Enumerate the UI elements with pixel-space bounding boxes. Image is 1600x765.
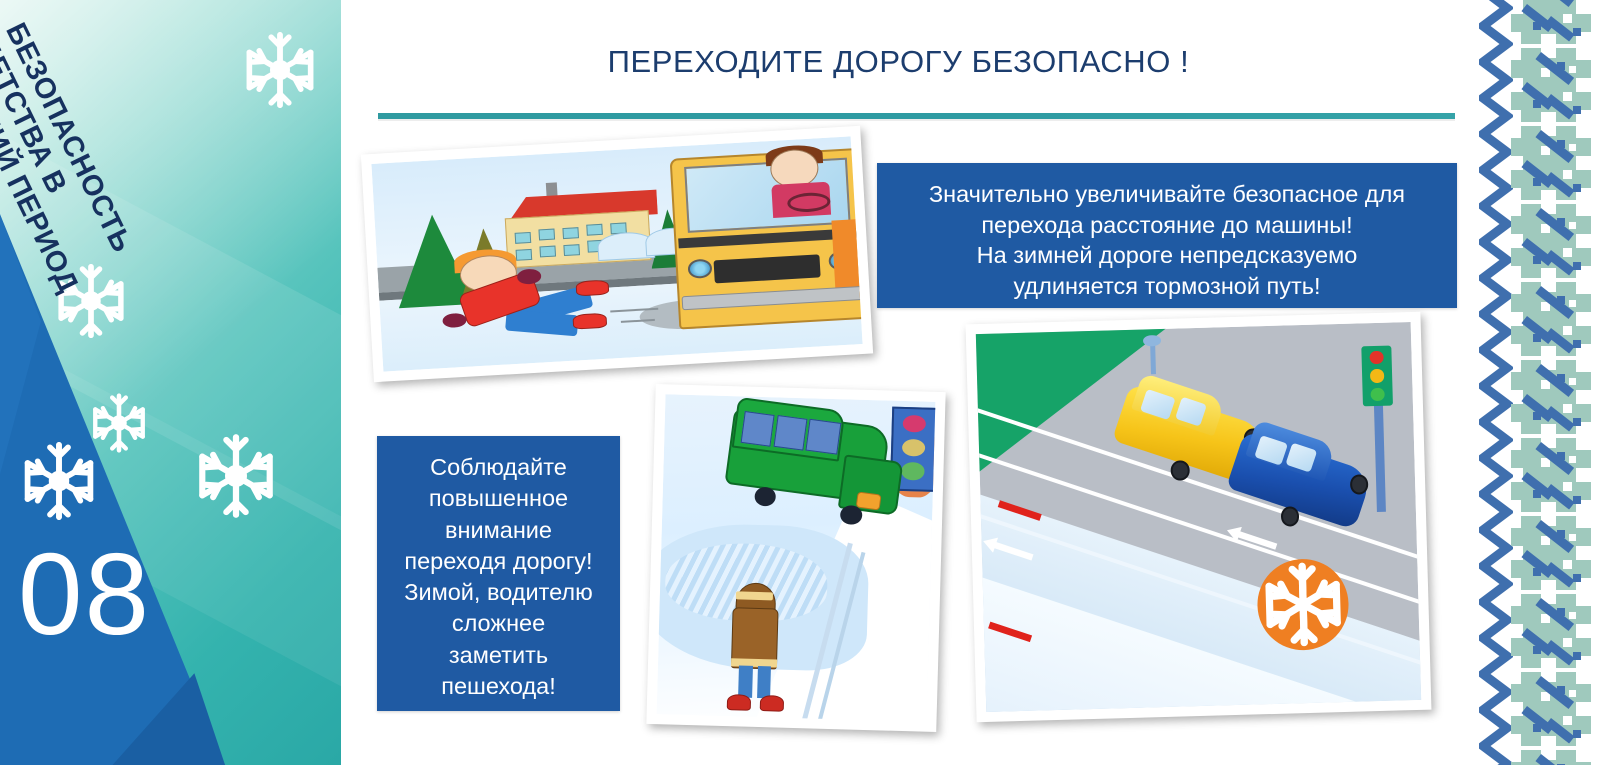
- callout-line: заметить: [387, 640, 610, 671]
- callout-line: переходя дорогу!: [387, 546, 610, 577]
- callout-line: Зимой, водителю: [387, 577, 610, 608]
- title-divider-rule: [378, 113, 1455, 119]
- snowflake-icon: [18, 440, 100, 526]
- callout-pay-attention-crossing: Соблюдайте повышенное внимание переходя …: [377, 436, 620, 711]
- callout-increase-safe-distance: Значительно увеличивайте безопасное для …: [877, 163, 1457, 308]
- snowflake-icon: [240, 30, 320, 114]
- diamond-motif-ornament-icon: [1505, 0, 1600, 765]
- illustration-green-car-behind-snowbank: [646, 384, 945, 732]
- callout-line: сложнее: [387, 608, 610, 639]
- callout-line: перехода расстояние до машины!: [891, 210, 1443, 241]
- callout-line: Значительно увеличивайте безопасное для: [891, 179, 1443, 210]
- snowflake-icon: [192, 432, 280, 524]
- callout-line: повышенное: [387, 483, 610, 514]
- page-title: ПЕРЕХОДИТЕ ДОРОГУ БЕЗОПАСНО !: [341, 44, 1456, 80]
- callout-line: внимание: [387, 515, 610, 546]
- snowflake-warning-icon: [1256, 558, 1350, 651]
- photo-canvas: [371, 136, 862, 371]
- slide-number-badge: 08: [18, 536, 151, 652]
- photo-canvas: [657, 394, 936, 721]
- illustration-winter-road-two-cars-braking: [966, 312, 1432, 723]
- slavic-folk-border-ornament: [1471, 0, 1600, 765]
- callout-line: Соблюдайте: [387, 452, 610, 483]
- main-content-area: ПЕРЕХОДИТЕ ДОРОГУ БЕЗОПАСНО !: [341, 0, 1471, 765]
- slide-root: БЕЗОПАСНОСТЬ ДЕТСТВА В ЗИМНИЙ ПЕРИОД 08 …: [0, 0, 1600, 765]
- left-decor-panel: БЕЗОПАСНОСТЬ ДЕТСТВА В ЗИМНИЙ ПЕРИОД 08: [0, 0, 341, 765]
- illustration-child-slipping-in-front-of-bus: [361, 126, 873, 382]
- callout-line: На зимней дороге непредсказуемо: [891, 240, 1443, 271]
- photo-canvas: [976, 322, 1421, 712]
- callout-line: пешехода!: [387, 671, 610, 702]
- callout-line: удлиняется тормозной путь!: [891, 271, 1443, 302]
